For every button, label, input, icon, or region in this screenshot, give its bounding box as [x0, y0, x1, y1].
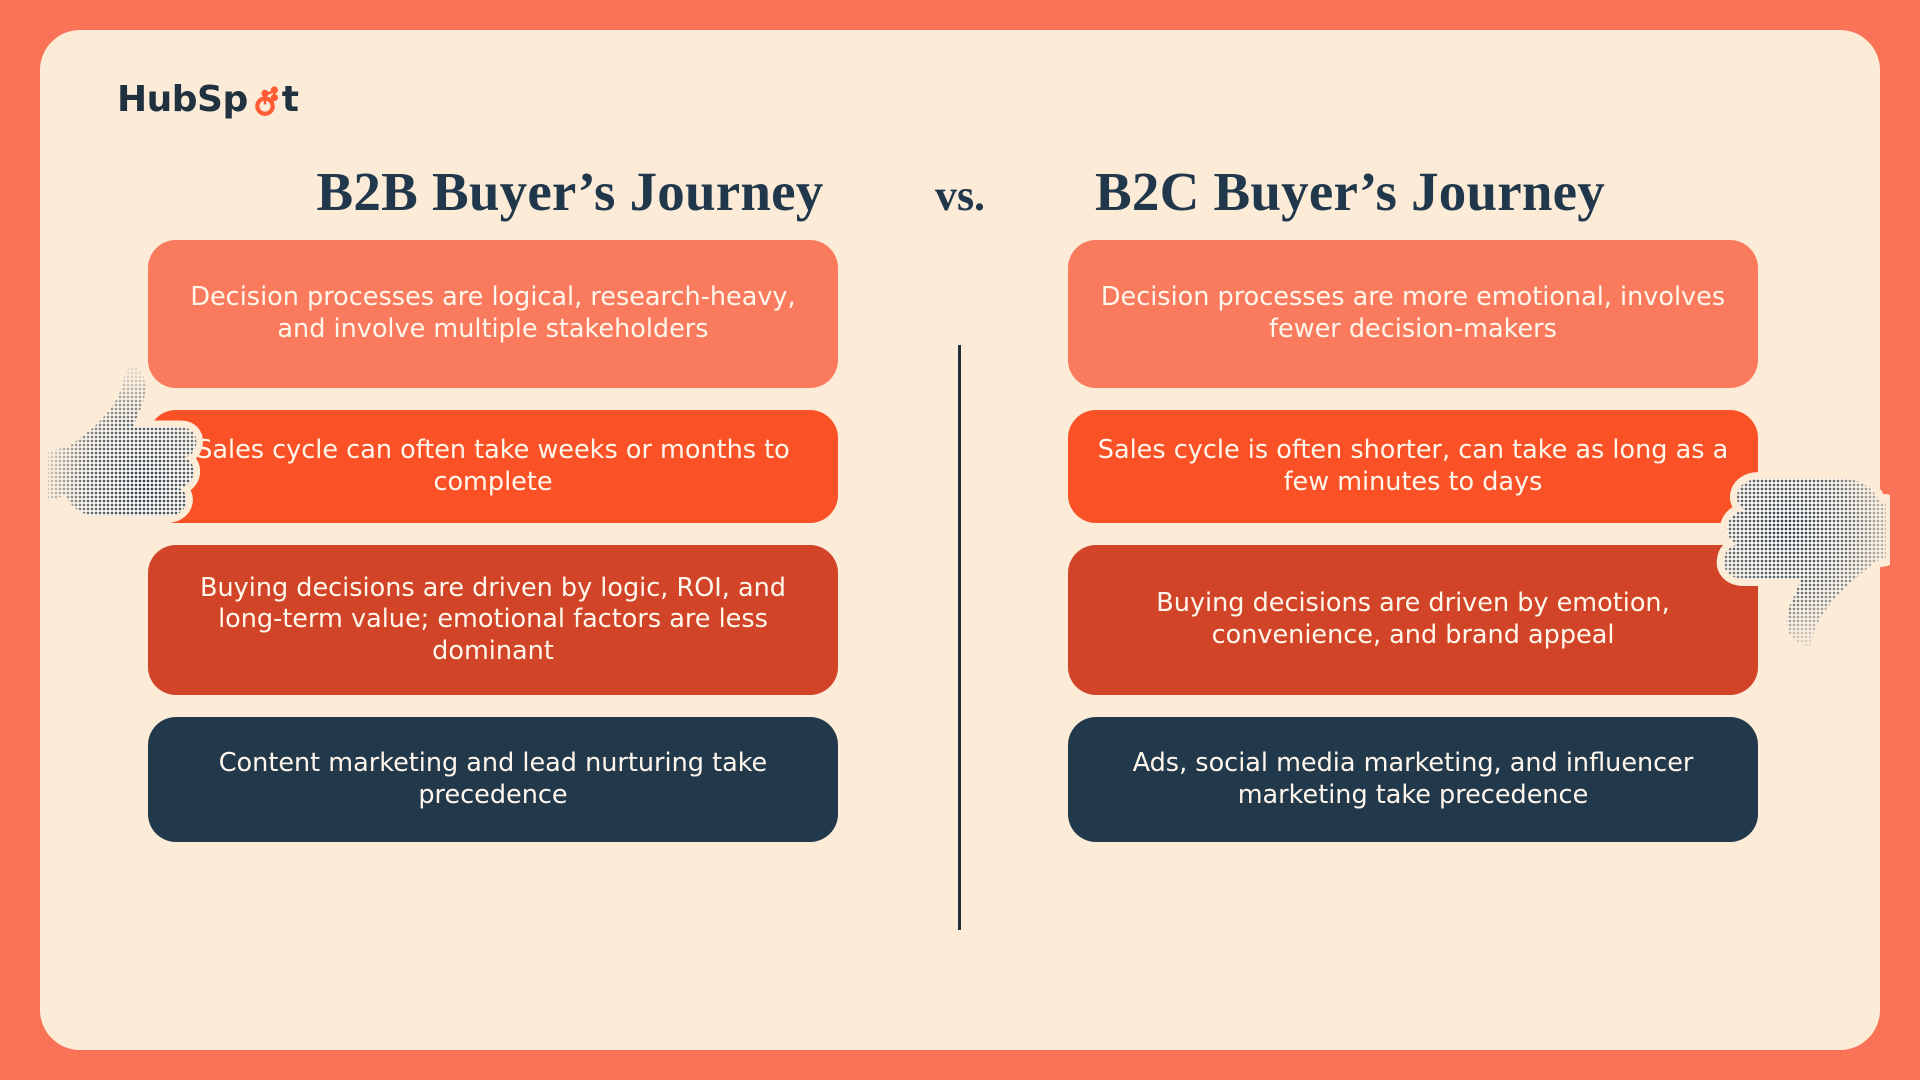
column-b2c: Decision processes are more emotional, i…: [1068, 240, 1758, 842]
card-text: Buying decisions are driven by logic, RO…: [174, 573, 812, 668]
card-b2c-marketing-channels: Ads, social media marketing, and influen…: [1068, 717, 1758, 842]
card-b2c-sales-cycle: Sales cycle is often shorter, can take a…: [1068, 410, 1758, 523]
heading-right: B2C Buyer’s Journey: [1020, 160, 1680, 223]
card-b2b-decision-process: Decision processes are logical, research…: [148, 240, 838, 388]
hubspot-logo: HubSp t: [117, 78, 298, 122]
heading-left: B2B Buyer’s Journey: [240, 160, 900, 223]
logo-wordmark-start: HubSp: [117, 82, 248, 118]
logo-wordmark-end: t: [282, 82, 299, 118]
column-b2b: Decision processes are logical, research…: [148, 240, 838, 842]
heading-separator: vs.: [900, 170, 1020, 221]
content-panel: HubSp t B2B Buyer’s Journey vs. B2C Buye…: [40, 30, 1880, 1050]
card-b2c-decision-process: Decision processes are more emotional, i…: [1068, 240, 1758, 388]
column-divider: [958, 345, 961, 930]
card-text: Buying decisions are driven by emotion, …: [1094, 588, 1732, 651]
card-b2b-marketing-channels: Content marketing and lead nurturing tak…: [148, 717, 838, 842]
card-b2b-buying-decisions: Buying decisions are driven by logic, RO…: [148, 545, 838, 695]
card-text: Ads, social media marketing, and influen…: [1094, 748, 1732, 811]
card-b2c-buying-decisions: Buying decisions are driven by emotion, …: [1068, 545, 1758, 695]
infographic-canvas: HubSp t B2B Buyer’s Journey vs. B2C Buye…: [0, 0, 1920, 1080]
card-text: Decision processes are more emotional, i…: [1094, 282, 1732, 345]
card-b2b-sales-cycle: Sales cycle can often take weeks or mont…: [148, 410, 838, 523]
hubspot-sprocket-icon: [248, 84, 282, 118]
heading-row: B2B Buyer’s Journey vs. B2C Buyer’s Jour…: [40, 160, 1880, 223]
card-text: Decision processes are logical, research…: [174, 282, 812, 345]
card-text: Content marketing and lead nurturing tak…: [174, 748, 812, 811]
card-text: Sales cycle can often take weeks or mont…: [174, 435, 812, 498]
card-text: Sales cycle is often shorter, can take a…: [1094, 435, 1732, 498]
